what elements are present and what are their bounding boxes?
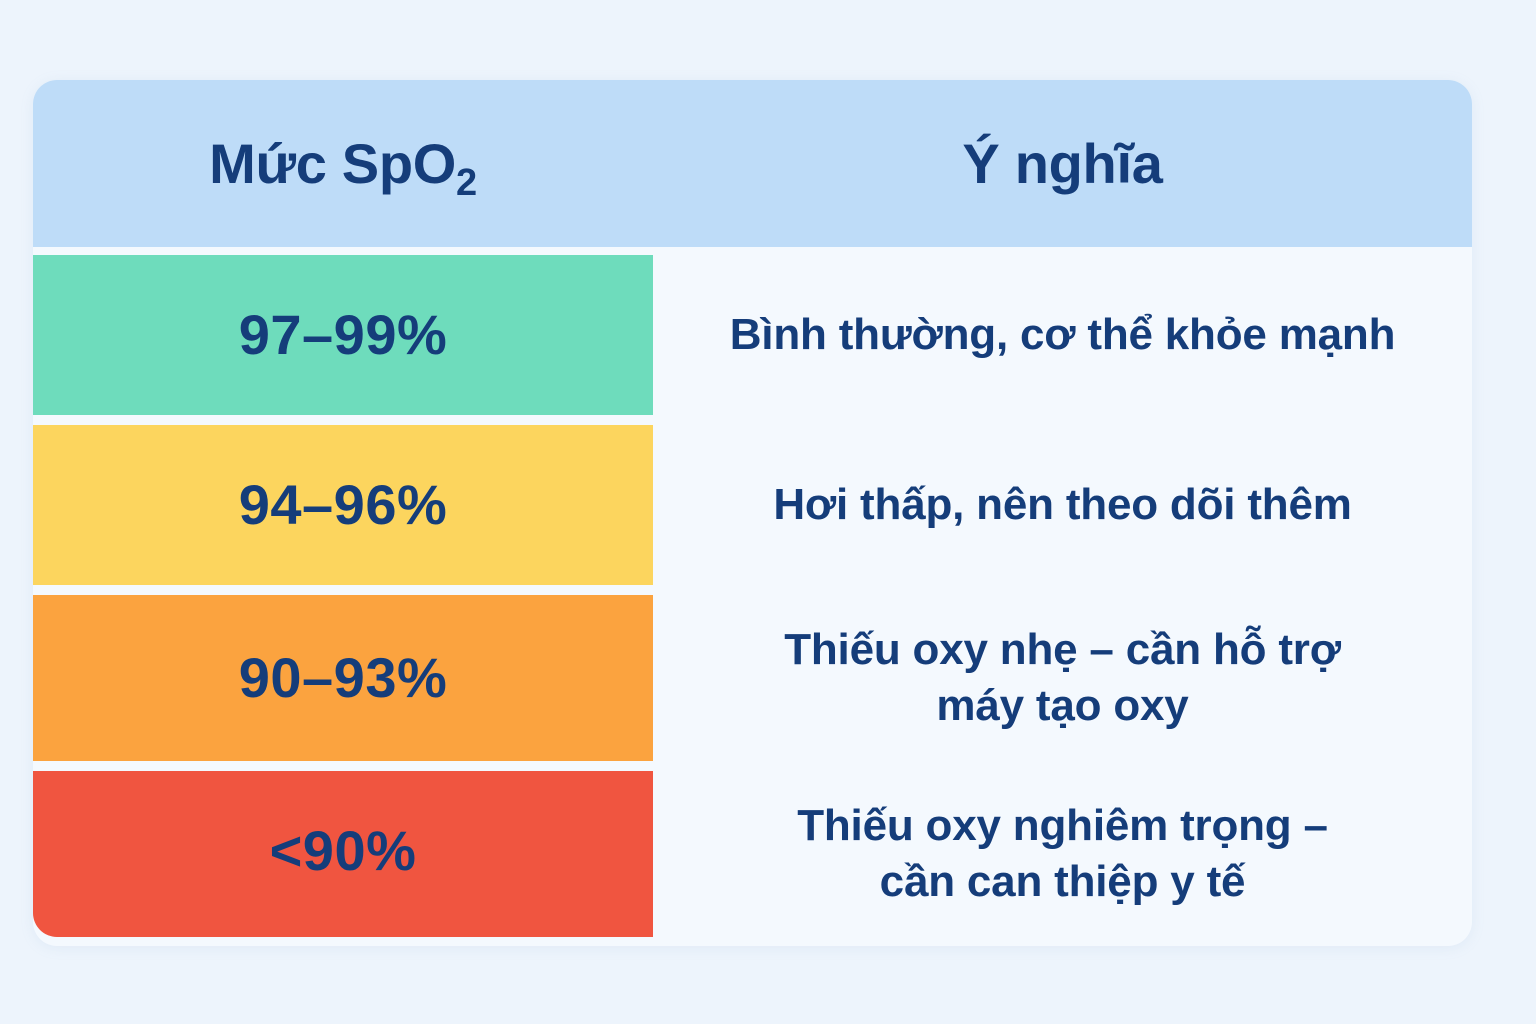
table-row: 97–99% Bình thường, cơ thể khỏe mạnh: [33, 255, 1472, 415]
header-label-meaning: Ý nghĩa: [962, 132, 1162, 195]
level-value: <90%: [270, 823, 417, 879]
meaning-value: Hơi thấp, nên theo dõi thêm: [773, 477, 1351, 533]
meaning-value: Thiếu oxy nhẹ – cần hỗ trợ máy tạo oxy: [784, 622, 1341, 735]
meaning-line-1: Thiếu oxy nghiêm trọng –: [797, 798, 1328, 854]
meaning-cell: Thiếu oxy nghiêm trọng – cần can thiệp y…: [653, 771, 1472, 937]
table-body: 97–99% Bình thường, cơ thể khỏe mạnh 94–…: [33, 247, 1472, 946]
meaning-line-1: Thiếu oxy nhẹ – cần hỗ trợ: [784, 622, 1341, 678]
table-row: 90–93% Thiếu oxy nhẹ – cần hỗ trợ máy tạ…: [33, 595, 1472, 761]
meaning-value: Bình thường, cơ thể khỏe mạnh: [730, 307, 1396, 363]
level-value: 97–99%: [239, 307, 448, 363]
table-row: <90% Thiếu oxy nghiêm trọng – cần can th…: [33, 771, 1472, 937]
meaning-line-2: máy tạo oxy: [784, 678, 1341, 734]
header-label-level-subscript: 2: [456, 162, 477, 204]
header-cell-meaning: Ý nghĩa: [653, 136, 1472, 192]
level-value: 90–93%: [239, 650, 448, 706]
spo2-reference-card: Mức SpO2 Ý nghĩa 97–99% Bình thường, cơ …: [33, 80, 1472, 946]
table-row: 94–96% Hơi thấp, nên theo dõi thêm: [33, 425, 1472, 585]
meaning-cell: Thiếu oxy nhẹ – cần hỗ trợ máy tạo oxy: [653, 595, 1472, 761]
level-swatch-slightly-low: 94–96%: [33, 425, 653, 585]
meaning-line-2: cần can thiệp y tế: [797, 854, 1328, 910]
table-header-row: Mức SpO2 Ý nghĩa: [33, 80, 1472, 247]
meaning-line-1: Bình thường, cơ thể khỏe mạnh: [730, 307, 1396, 363]
meaning-line-1: Hơi thấp, nên theo dõi thêm: [773, 477, 1351, 533]
level-value: 94–96%: [239, 477, 448, 533]
meaning-cell: Bình thường, cơ thể khỏe mạnh: [653, 255, 1472, 415]
header-label-level: Mức SpO2: [209, 132, 477, 195]
level-swatch-normal: 97–99%: [33, 255, 653, 415]
level-swatch-severe-hypoxia: <90%: [33, 771, 653, 937]
header-cell-level: Mức SpO2: [33, 136, 653, 192]
meaning-cell: Hơi thấp, nên theo dõi thêm: [653, 425, 1472, 585]
meaning-value: Thiếu oxy nghiêm trọng – cần can thiệp y…: [797, 798, 1328, 911]
level-swatch-mild-hypoxia: 90–93%: [33, 595, 653, 761]
